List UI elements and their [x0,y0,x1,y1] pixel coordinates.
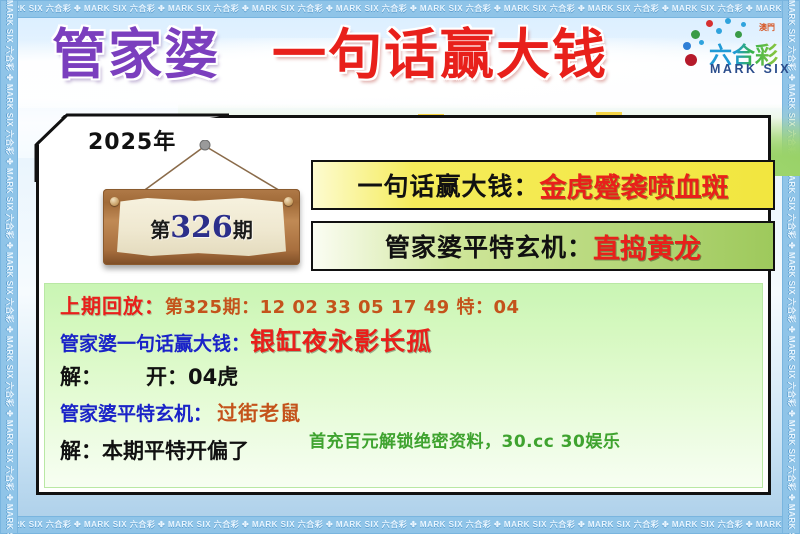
info-box: 上期回放：第325期：12 02 33 05 17 49 特：04 管家婆一句话… [44,283,763,488]
answer-two-value: 本期平特开偏了 [102,439,249,463]
border-strip-left: MARK SIX 六合彩 ✤ MARK SIX 六合彩 ✤ MARK SIX 六… [0,0,18,534]
previous-draw-label: 上期回放： [60,294,165,318]
answer-one-label: 解： [60,365,102,389]
riddle-label: 管家婆平特玄机： [60,403,212,425]
border-pattern-text-right: MARK SIX 六合彩 ✤ MARK SIX 六合彩 ✤ MARK SIX 六… [787,0,796,534]
poster-title-primary: 管家婆 [52,26,220,84]
issue-number-text: 第326期 [150,210,253,245]
lottery-poster: MARK SIX 六合彩 ✤ MARK SIX 六合彩 ✤ MARK SIX 六… [0,0,800,534]
border-strip-top: MARK SIX 六合彩 ✤ MARK SIX 六合彩 ✤ MARK SIX 六… [0,0,800,18]
sign-paper: 第326期 [117,198,286,256]
border-pattern-text-top: MARK SIX 六合彩 ✤ MARK SIX 六合彩 ✤ MARK SIX 六… [0,4,800,13]
row-previous-draw: 上期回放：第325期：12 02 33 05 17 49 特：04 [60,290,520,319]
border-pattern-text-bottom: MARK SIX 六合彩 ✤ MARK SIX 六合彩 ✤ MARK SIX 六… [0,520,800,529]
phrase-label: 管家婆一句话赢大钱： [60,333,250,355]
row-answer-one: 解：开：04虎 [60,361,238,391]
row-answer-two: 解：本期平特开偏了 [60,435,249,465]
banner-riddle-label: 管家婆平特玄机： [385,228,593,264]
phrase-value: 银缸夜永影长孤 [250,327,432,356]
issue-suffix: 期 [233,218,253,242]
issue-prefix: 第 [150,218,170,242]
riddle-value: 过街老鼠 [217,401,301,425]
border-pattern-text-left: MARK SIX 六合彩 ✤ MARK SIX 六合彩 ✤ MARK SIX 六… [5,0,14,534]
row-phrase: 管家婆一句话赢大钱：银缸夜永影长孤 [60,322,432,358]
border-strip-bottom: MARK SIX 六合彩 ✤ MARK SIX 六合彩 ✤ MARK SIX 六… [0,516,800,534]
logo-region-label: 澳門 [759,22,775,33]
answer-two-label: 解： [60,439,102,463]
logo-english-label: MARK SIX [710,62,791,76]
banner-phrase-value: 金虎蹙袭喷血斑 [540,166,729,205]
screw-icon [110,197,119,206]
poster-title-secondary: 一句话赢大钱 [272,26,608,84]
answer-one-value: 开：04虎 [146,365,238,389]
banner-riddle: 管家婆平特玄机： 直捣黄龙 [311,221,775,271]
issue-number-sign: 第326期 [103,189,300,265]
promo-text: 首充百元解锁绝密资料，30.cc 30娱乐 [309,427,620,452]
row-riddle: 管家婆平特玄机： 过街老鼠 [60,397,301,426]
screw-icon [284,197,293,206]
banner-phrase-label: 一句话赢大钱： [357,167,539,203]
banner-phrase: 一句话赢大钱： 金虎蹙袭喷血斑 [311,160,775,210]
issue-number: 326 [170,210,233,245]
banner-riddle-value: 直捣黄龙 [593,227,701,266]
previous-draw-value: 第325期：12 02 33 05 17 49 特：04 [165,297,520,318]
mark-six-logo: 澳門 六合彩 MARK SIX [683,18,787,84]
